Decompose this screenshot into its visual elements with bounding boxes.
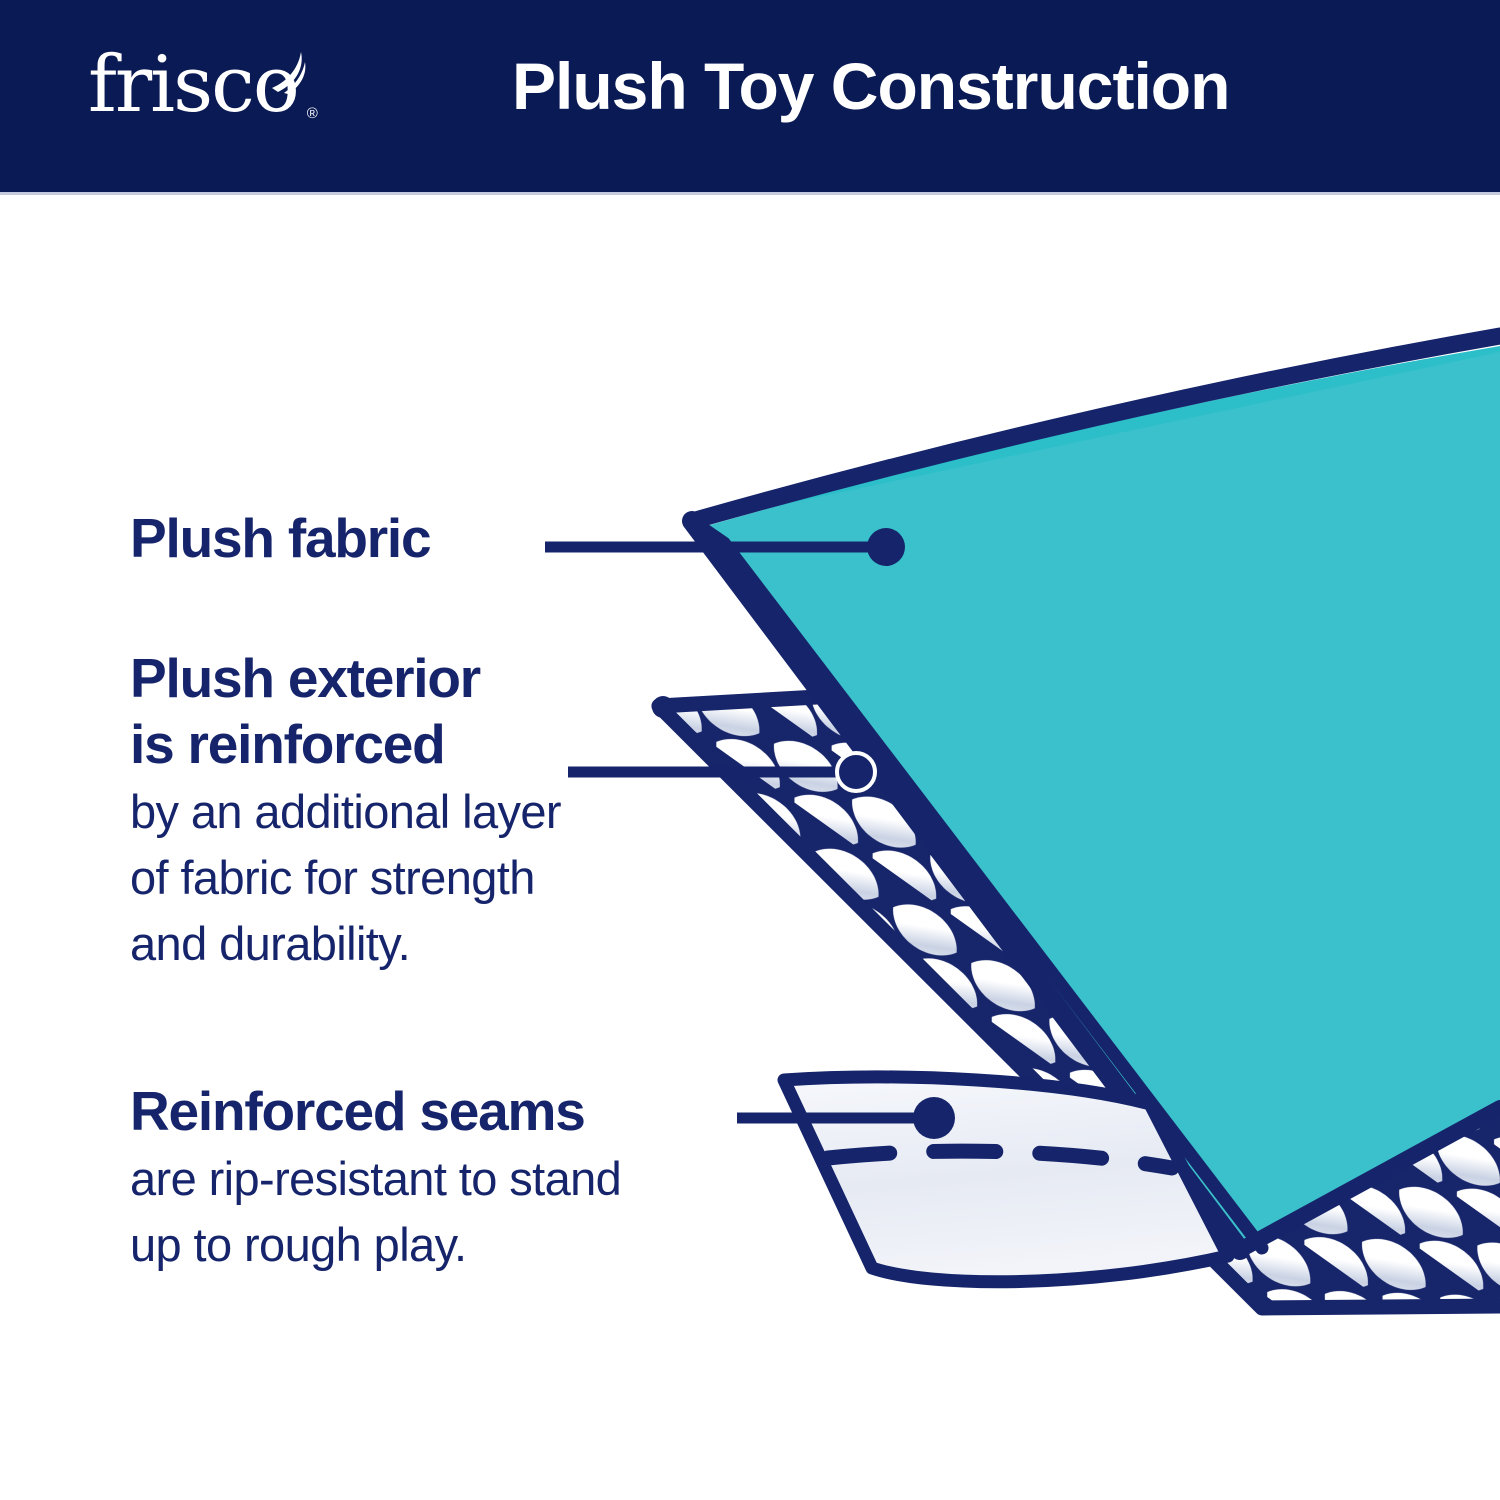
callout-plush-exterior: Plush exterior is reinforced by an addit… xyxy=(130,645,561,977)
callout-heading: Reinforced seams xyxy=(130,1078,621,1144)
callout-body: by an additional layer of fabric for str… xyxy=(130,779,561,977)
callout-reinforced-seams: Reinforced seams are rip-resistant to st… xyxy=(130,1078,621,1278)
callout-body: are rip-resistant to stand up to rough p… xyxy=(130,1146,621,1278)
callout-plush-fabric: Plush fabric xyxy=(130,505,430,571)
infographic-canvas: frisco ® Plush Toy Construction xyxy=(0,0,1500,1500)
callout-heading: Plush fabric xyxy=(130,505,430,571)
callout-heading: Plush exterior is reinforced xyxy=(130,645,561,777)
